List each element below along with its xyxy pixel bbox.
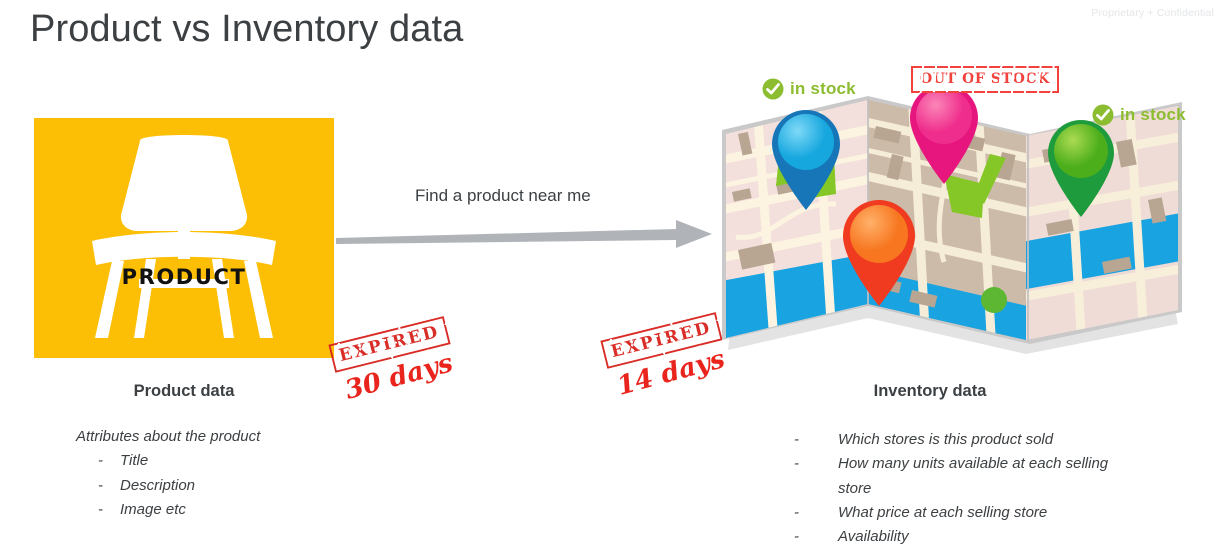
inventory-data-caption: Inventory data <box>780 382 1080 401</box>
list-item: - Which stores is this product sold <box>790 428 1120 452</box>
product-intro-text: Attributes about the product <box>76 425 406 449</box>
list-item-label: Description <box>120 474 406 498</box>
check-circle-icon <box>1092 104 1114 126</box>
product-image-tile: PRODUCT <box>34 118 334 358</box>
confidential-notice: Proprietary + Confidential <box>1091 7 1214 19</box>
page-title: Product vs Inventory data <box>30 8 463 51</box>
list-item: - Title <box>76 449 406 473</box>
status-badge-in-stock-right: in stock <box>1092 104 1186 126</box>
product-tile-word: PRODUCT <box>122 265 247 289</box>
right-arrow-icon <box>336 218 712 252</box>
check-circle-icon <box>762 78 784 100</box>
slide-canvas: Product vs Inventory data Proprietary + … <box>0 0 1228 540</box>
arrow-label: Find a product near me <box>415 186 591 206</box>
bullet-marker: - <box>76 474 120 498</box>
list-item-label: What price at each selling store <box>838 501 1120 525</box>
folded-map-icon <box>716 92 1186 364</box>
bullet-marker: - <box>790 452 838 501</box>
bullet-marker: - <box>76 449 120 473</box>
product-data-body: Attributes about the product - Title - D… <box>76 425 406 522</box>
list-item-label: Title <box>120 449 406 473</box>
bullet-marker: - <box>790 501 838 525</box>
list-item: - Availability <box>790 525 1120 549</box>
expired-stamp-product: EXPIRED 30 days <box>330 316 460 412</box>
list-item: - Image etc <box>76 498 406 522</box>
list-item: - Description <box>76 474 406 498</box>
bullet-marker: - <box>76 498 120 522</box>
list-item: - How many units available at each selli… <box>790 452 1120 501</box>
list-item: - What price at each selling store <box>790 501 1120 525</box>
status-badge-label: in stock <box>790 79 856 99</box>
inventory-data-body: - Which stores is this product sold - Ho… <box>790 428 1120 549</box>
bullet-marker: - <box>790 428 838 452</box>
bullet-marker: - <box>790 525 838 549</box>
chair-icon <box>84 133 284 343</box>
list-item-label: Image etc <box>120 498 406 522</box>
list-item-label: Which stores is this product sold <box>838 428 1120 452</box>
status-badge-out-of-stock: OUT OF STOCK <box>911 66 1059 93</box>
expired-stamp-inventory: EXPIRED 14 days <box>602 312 732 408</box>
status-badge-label: in stock <box>1120 105 1186 125</box>
list-item-label: How many units available at each selling… <box>838 452 1120 501</box>
status-badge-in-stock-left: in stock <box>762 78 856 100</box>
list-item-label: Availability <box>838 525 1120 549</box>
product-data-caption: Product data <box>34 382 334 401</box>
